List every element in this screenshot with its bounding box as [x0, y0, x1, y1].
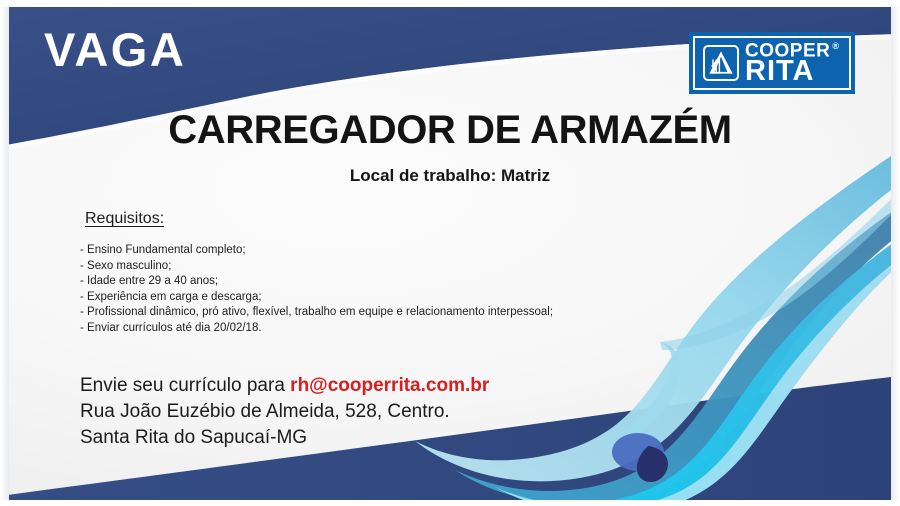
paper-edge-left [0, 0, 9, 506]
page-title: CARREGADOR DE ARMAZÉM [0, 108, 900, 153]
list-item: - Experiência em carga e descarga; [80, 290, 553, 306]
contact-cta-line: Envie seu currículo para rh@cooperrita.c… [80, 373, 489, 399]
logo-wordmark: COOPER® RITA [745, 42, 840, 84]
list-item: - Profissional dinâmico, pró ativo, flex… [80, 305, 553, 321]
paper-edge-bottom [0, 500, 900, 506]
cooper-rita-logo: COOPER® RITA [689, 32, 855, 94]
contact-address: Rua João Euzébio de Almeida, 528, Centro… [80, 399, 489, 425]
registered-trademark-icon: ® [832, 41, 839, 51]
job-location-subtitle: Local de trabalho: Matriz [0, 166, 900, 186]
list-item: - Sexo masculino; [80, 259, 553, 275]
contact-city: Santa Rita do Sapucaí-MG [80, 425, 489, 451]
silo-triangle-icon [703, 45, 739, 81]
list-item: - Ensino Fundamental completo; [80, 243, 553, 259]
job-posting-slide: VAGA [0, 0, 900, 506]
list-item: - Enviar currículos até dia 20/02/18. [80, 321, 553, 337]
paper-edge-right [891, 0, 900, 506]
requirements-heading: Requisitos: [85, 210, 164, 228]
contact-email[interactable]: rh@cooperrita.com.br [290, 375, 489, 396]
paper-edge-top [0, 0, 900, 7]
logo-inner-frame: COOPER® RITA [693, 36, 851, 90]
list-item: - Idade entre 29 a 40 anos; [80, 274, 553, 290]
contact-block: Envie seu currículo para rh@cooperrita.c… [80, 373, 489, 451]
logo-line-rita: RITA [745, 58, 840, 85]
requirements-list: - Ensino Fundamental completo; - Sexo ma… [80, 243, 553, 337]
vaga-banner-label: VAGA [44, 26, 186, 73]
contact-cta-prefix: Envie seu currículo para [80, 375, 290, 396]
